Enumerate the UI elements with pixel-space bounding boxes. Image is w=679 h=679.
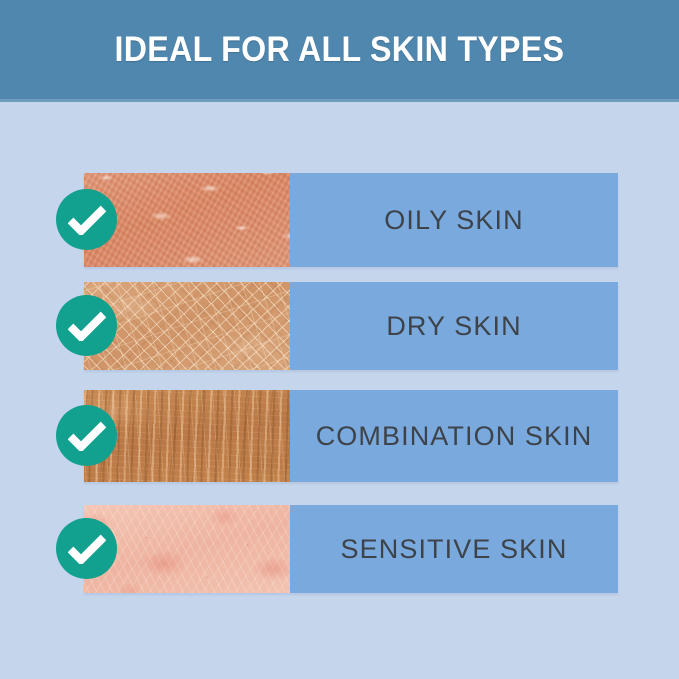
skin-type-label: OILY SKIN [384, 207, 523, 234]
skin-type-label: DRY SKIN [386, 313, 521, 340]
label-band: OILY SKIN [290, 173, 618, 267]
list-item: SENSITIVE SKIN [84, 505, 618, 593]
infographic-page: IDEAL FOR ALL SKIN TYPES OILY SKIN DRY S… [0, 0, 679, 679]
skin-type-list: OILY SKIN DRY SKIN [0, 99, 679, 679]
check-icon [56, 518, 117, 579]
label-band: SENSITIVE SKIN [290, 505, 618, 593]
list-item: DRY SKIN [84, 282, 618, 370]
check-icon [56, 405, 117, 466]
header-banner: IDEAL FOR ALL SKIN TYPES [0, 0, 679, 99]
label-band: COMBINATION SKIN [290, 390, 618, 482]
check-icon [56, 295, 117, 356]
skin-type-label: COMBINATION SKIN [316, 423, 593, 450]
list-item: OILY SKIN [84, 173, 618, 267]
page-title: IDEAL FOR ALL SKIN TYPES [115, 32, 565, 68]
check-icon [56, 189, 117, 250]
label-band: DRY SKIN [290, 282, 618, 370]
list-item: COMBINATION SKIN [84, 390, 618, 482]
skin-type-label: SENSITIVE SKIN [341, 536, 568, 563]
